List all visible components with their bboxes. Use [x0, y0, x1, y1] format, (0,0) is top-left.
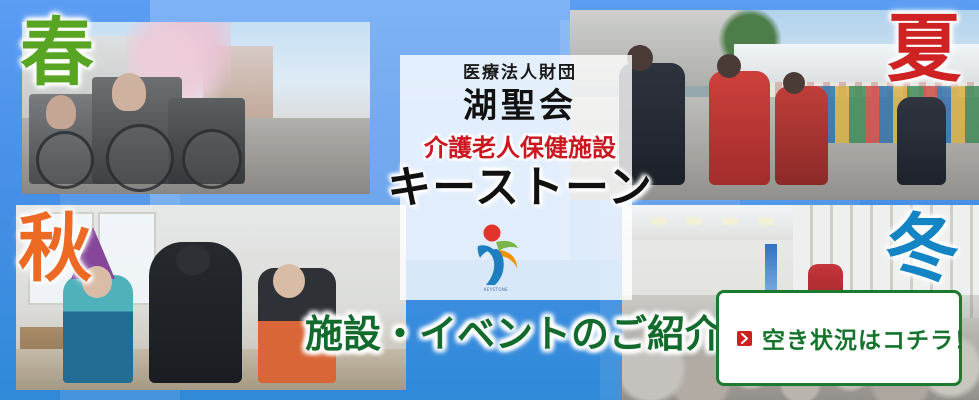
cta-label: 空き状況はコチラ！	[762, 321, 978, 355]
facility-title-block: 医療法人財団 湖聖会 介護老人保健施設 キーストーン	[330, 58, 710, 214]
corporation-type: 医療法人財団	[330, 58, 710, 83]
season-label-spring: 春	[20, 16, 94, 90]
keystone-logo: KEYSTONE	[466, 222, 526, 298]
corporation-name: 湖聖会	[330, 89, 710, 125]
facility-type: 介護老人保健施設	[330, 135, 710, 161]
hero-banner: 春 夏 秋 冬 医療法人財団 湖聖会 介護老人保健施設 キーストーン KEYST…	[0, 0, 979, 400]
facility-name: キーストーン	[330, 163, 710, 214]
headline-text: 施設・イベントのご紹介	[305, 303, 723, 358]
red-chevron-right-icon	[737, 331, 752, 346]
keystone-logo-icon	[466, 222, 526, 288]
season-label-autumn: 秋	[18, 212, 92, 286]
season-label-summer: 夏	[887, 12, 961, 86]
availability-cta-button[interactable]: 空き状況はコチラ！	[716, 290, 962, 386]
season-label-winter: 冬	[885, 212, 959, 286]
